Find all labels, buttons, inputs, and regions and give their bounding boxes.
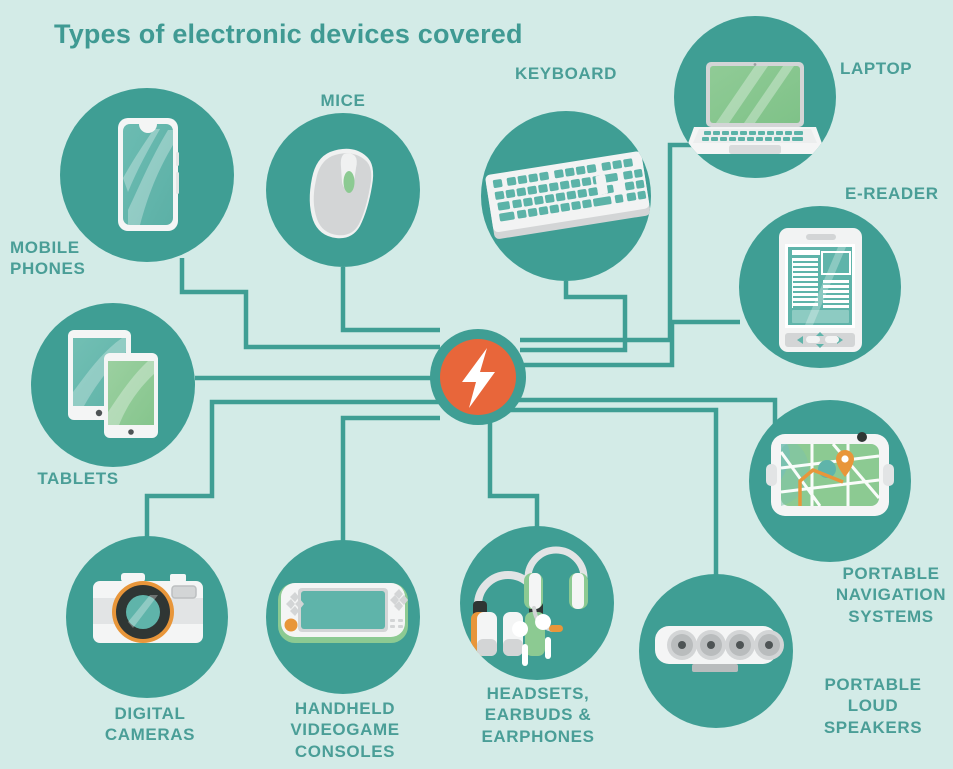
page-title: Types of electronic devices covered [54, 19, 523, 50]
node-navigation-systems[interactable] [749, 400, 911, 562]
camera-icon [93, 573, 203, 643]
node-mice[interactable] [266, 113, 420, 267]
node-digital-cameras[interactable] [66, 536, 228, 698]
infographic-svg [0, 0, 953, 769]
node-keyboard[interactable] [481, 111, 651, 281]
connector-mice [343, 267, 440, 330]
connector-handheld-consoles [343, 418, 440, 542]
game-console-icon [278, 583, 408, 643]
node-mobile-phones[interactable] [60, 88, 234, 262]
connector-headsets [462, 412, 537, 528]
node-e-reader[interactable] [739, 206, 901, 368]
hub-node[interactable] [430, 329, 526, 425]
node-laptop[interactable] [674, 16, 836, 178]
connector-digital-cameras [147, 402, 440, 540]
e-reader-icon [779, 228, 862, 352]
connector-navigation-systems [512, 400, 775, 430]
node-portable-speakers[interactable] [639, 574, 793, 728]
connector-e-reader [520, 322, 740, 365]
node-handheld-consoles[interactable] [266, 540, 420, 694]
infographic-canvas: Types of electronic devices covered MOBI… [0, 0, 953, 769]
connector-mobile-phones [182, 258, 440, 347]
gps-navigator-icon [766, 432, 894, 516]
node-tablets[interactable] [31, 303, 195, 467]
node-headsets-earbuds[interactable] [460, 526, 614, 680]
smartphone-icon [118, 118, 179, 231]
laptop-icon [686, 62, 824, 154]
